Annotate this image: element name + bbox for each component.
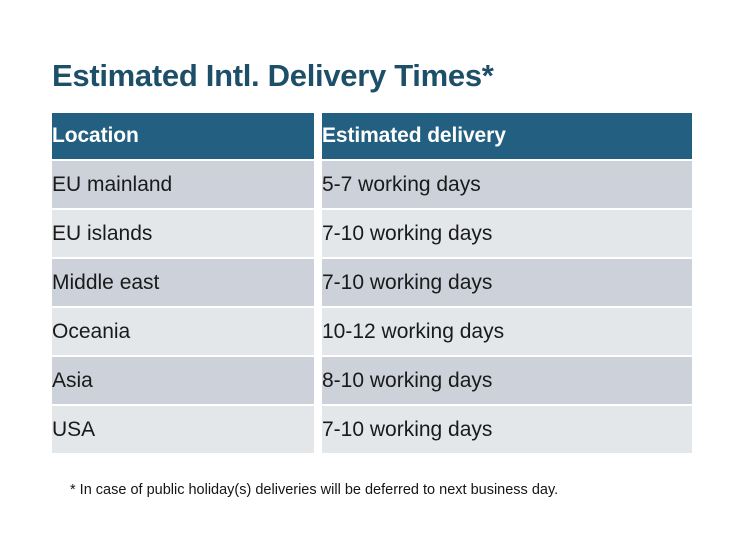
row-gutter: [314, 406, 322, 453]
cell-delivery: 7-10 working days: [322, 210, 692, 257]
row-gutter: [314, 308, 322, 355]
row-gutter: [314, 357, 322, 404]
row-gutter: [314, 161, 322, 208]
cell-delivery: 10-12 working days: [322, 308, 692, 355]
table-row: Asia 8-10 working days: [52, 357, 692, 404]
cell-delivery: 7-10 working days: [322, 406, 692, 453]
cell-delivery: 7-10 working days: [322, 259, 692, 306]
table-row: Oceania 10-12 working days: [52, 308, 692, 355]
cell-location: EU islands: [52, 210, 314, 257]
table-row: EU islands 7-10 working days: [52, 210, 692, 257]
column-gutter: [314, 113, 322, 159]
delivery-times-page: Estimated Intl. Delivery Times* Location…: [0, 0, 745, 536]
cell-location: EU mainland: [52, 161, 314, 208]
row-gutter: [314, 210, 322, 257]
column-header-estimated-delivery: Estimated delivery: [322, 113, 692, 159]
column-header-location: Location: [52, 113, 314, 159]
table-header-row: Location Estimated delivery: [52, 113, 692, 159]
cell-location: Asia: [52, 357, 314, 404]
page-title: Estimated Intl. Delivery Times*: [52, 57, 494, 94]
table-body: EU mainland 5-7 working days EU islands …: [52, 159, 692, 453]
estimated-delivery-times-table: Location Estimated delivery EU mainland …: [52, 113, 692, 453]
cell-delivery: 8-10 working days: [322, 357, 692, 404]
table-header: Location Estimated delivery: [52, 113, 692, 159]
cell-location: Oceania: [52, 308, 314, 355]
table-row: Middle east 7-10 working days: [52, 259, 692, 306]
row-gutter: [314, 259, 322, 306]
cell-location: Middle east: [52, 259, 314, 306]
cell-delivery: 5-7 working days: [322, 161, 692, 208]
cell-location: USA: [52, 406, 314, 453]
footnote: * In case of public holiday(s) deliverie…: [70, 481, 558, 500]
table-row: EU mainland 5-7 working days: [52, 161, 692, 208]
table-row: USA 7-10 working days: [52, 406, 692, 453]
